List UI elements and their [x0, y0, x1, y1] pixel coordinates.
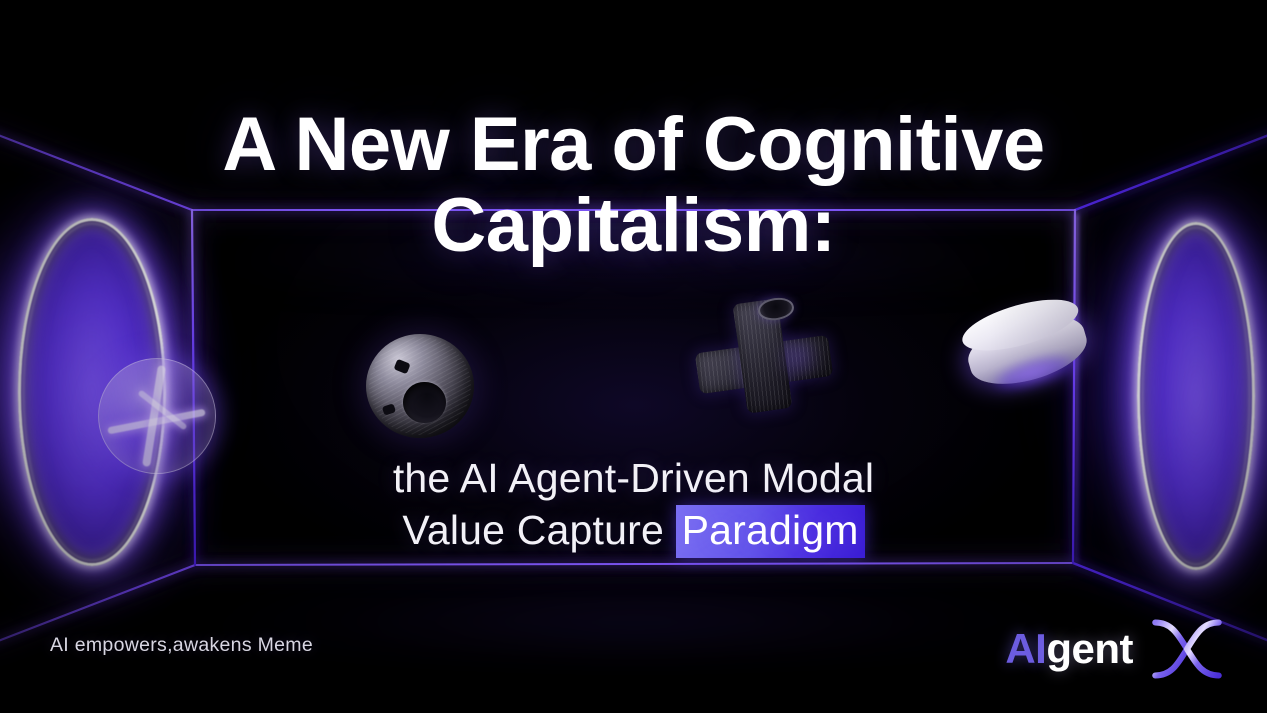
logo-accent-text: AI	[1005, 625, 1046, 672]
logo-rest-text: gent	[1046, 625, 1133, 672]
tagline: AI empowers,awakens Meme	[50, 634, 313, 657]
logo-wordmark: AIgent	[1005, 628, 1133, 670]
headline-line-1: A New Era of Cognitive	[222, 102, 1044, 187]
page-subtitle: the AI Agent-Driven Modal Value Capture …	[0, 452, 1267, 557]
slide-canvas: A New Era of Cognitive Capitalism: the A…	[0, 0, 1267, 713]
subtitle-line-1: the AI Agent-Driven Modal	[393, 455, 874, 501]
x-chevron-icon	[1149, 618, 1225, 680]
page-title: A New Era of Cognitive Capitalism:	[0, 104, 1267, 267]
headline-line-2: Capitalism:	[431, 183, 835, 268]
subtitle-highlight: Paradigm	[676, 505, 865, 558]
subtitle-line-2-prefix: Value Capture	[402, 507, 675, 553]
brand-logo[interactable]: AIgent	[1005, 618, 1225, 680]
